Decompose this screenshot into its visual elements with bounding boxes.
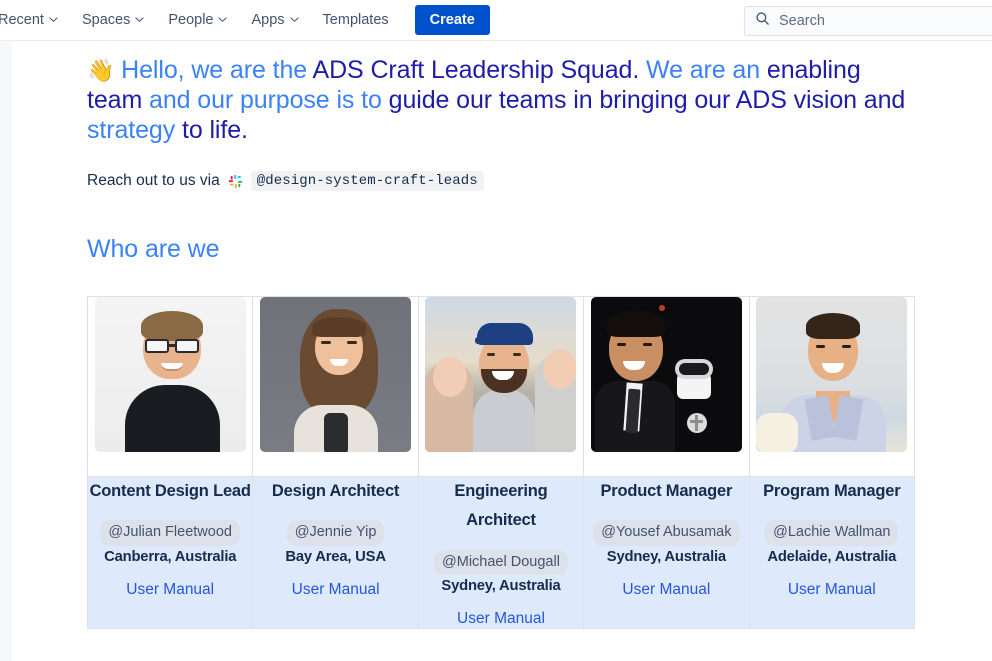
nav-item-spaces[interactable]: Spaces <box>70 6 156 34</box>
hero-seg-7: to life. <box>182 116 248 144</box>
hero-seg-6: strategy <box>87 116 182 144</box>
people-table: Content Design Lead @Julian Fleetwood Ca… <box>87 296 915 629</box>
chevron-down-icon <box>135 15 144 24</box>
hero-seg-1: ADS Craft Leadership Squad. <box>313 56 640 84</box>
mention-chip[interactable]: @Yousef Abusamak <box>593 520 739 545</box>
photo-cell-1 <box>253 297 418 477</box>
photo-julian-fleetwood <box>95 297 246 452</box>
photo-yousef-abusamak <box>591 297 742 452</box>
search-box[interactable] <box>744 6 992 36</box>
page-content: 👋 Hello, we are the ADS Craft Leadership… <box>87 41 947 629</box>
table-row-photos <box>88 297 915 477</box>
photo-cell-0 <box>88 297 253 477</box>
reach-out-text: Reach out to us via <box>87 172 220 190</box>
hero-seg-0: Hello, we are the <box>121 56 312 84</box>
role-label: Content Design Lead <box>88 477 252 506</box>
hero-seg-2: We are an <box>639 56 767 84</box>
user-manual-link[interactable]: User Manual <box>584 581 748 599</box>
confluence-page: Recent Spaces People Apps <box>0 0 992 661</box>
nav-item-spaces-label: Spaces <box>82 12 130 28</box>
hero-heading: 👋 Hello, we are the ADS Craft Leadership… <box>87 55 907 145</box>
chevron-down-icon <box>49 15 58 24</box>
location-label: Adelaide, Australia <box>750 546 914 569</box>
role-label: Engineering Architect <box>419 477 583 536</box>
role-label: Product Manager <box>584 477 748 506</box>
location-label: Bay Area, USA <box>253 546 417 569</box>
search-input[interactable] <box>779 13 992 29</box>
mention-chip[interactable]: @Julian Fleetwood <box>100 520 240 545</box>
user-manual-link[interactable]: User Manual <box>88 581 252 599</box>
user-manual-link[interactable]: User Manual <box>253 581 417 599</box>
chevron-down-icon <box>290 15 299 24</box>
chevron-down-icon <box>218 15 227 24</box>
info-cell-1: Design Architect @Jennie Yip Bay Area, U… <box>253 477 418 629</box>
location-label: Canberra, Australia <box>88 546 252 569</box>
photo-cell-4 <box>749 297 914 477</box>
photo-michael-dougall <box>425 297 576 452</box>
slack-icon <box>227 173 244 190</box>
mention-wrap: @Jennie Yip <box>253 520 417 545</box>
photo-jennie-yip <box>260 297 411 452</box>
info-cell-0: Content Design Lead @Julian Fleetwood Ca… <box>88 477 253 629</box>
mention-wrap: @Michael Dougall <box>419 550 583 575</box>
photo-cell-3 <box>584 297 749 477</box>
waving-hand-icon: 👋 <box>87 58 114 83</box>
mention-chip[interactable]: @Lachie Wallman <box>765 520 898 545</box>
info-cell-2: Engineering Architect @Michael Dougall S… <box>418 477 583 629</box>
mention-chip[interactable]: @Michael Dougall <box>434 550 568 575</box>
user-manual-link[interactable]: User Manual <box>419 610 583 628</box>
photo-cell-2 <box>418 297 583 477</box>
top-navigation-bar: Recent Spaces People Apps <box>0 0 992 41</box>
nav-item-templates[interactable]: Templates <box>311 6 401 34</box>
nav-item-recent-label: Recent <box>0 12 44 28</box>
nav-item-recent[interactable]: Recent <box>0 6 70 34</box>
nav-item-people-label: People <box>168 12 213 28</box>
role-label: Design Architect <box>253 477 417 506</box>
location-label: Sydney, Australia <box>584 546 748 569</box>
left-gutter <box>0 41 12 661</box>
info-cell-4: Program Manager @Lachie Wallman Adelaide… <box>749 477 914 629</box>
table-row-info: Content Design Lead @Julian Fleetwood Ca… <box>88 477 915 629</box>
photo-lachie-wallman <box>756 297 907 452</box>
nav-items: Recent Spaces People Apps <box>0 5 490 35</box>
nav-item-apps[interactable]: Apps <box>239 6 310 34</box>
nav-item-templates-label: Templates <box>323 12 389 28</box>
info-cell-3: Product Manager @Yousef Abusamak Sydney,… <box>584 477 749 629</box>
hero-seg-5: guide our teams in bringing our ADS visi… <box>389 86 906 114</box>
mention-wrap: @Julian Fleetwood <box>88 520 252 545</box>
mention-wrap: @Lachie Wallman <box>750 520 914 545</box>
location-label: Sydney, Australia <box>419 575 583 598</box>
nav-item-people[interactable]: People <box>156 6 239 34</box>
mention-chip[interactable]: @Jennie Yip <box>287 520 385 545</box>
section-title-who-are-we: Who are we <box>87 235 947 264</box>
search-icon <box>755 11 770 31</box>
hero-seg-4: and our purpose is to <box>142 86 388 114</box>
mention-wrap: @Yousef Abusamak <box>584 520 748 545</box>
nav-item-apps-label: Apps <box>251 12 284 28</box>
reach-out-line: Reach out to us via @design-system-craft… <box>87 171 947 191</box>
create-button[interactable]: Create <box>415 5 490 35</box>
role-label: Program Manager <box>750 477 914 506</box>
user-manual-link[interactable]: User Manual <box>750 581 914 599</box>
slack-handle[interactable]: @design-system-craft-leads <box>251 171 484 191</box>
